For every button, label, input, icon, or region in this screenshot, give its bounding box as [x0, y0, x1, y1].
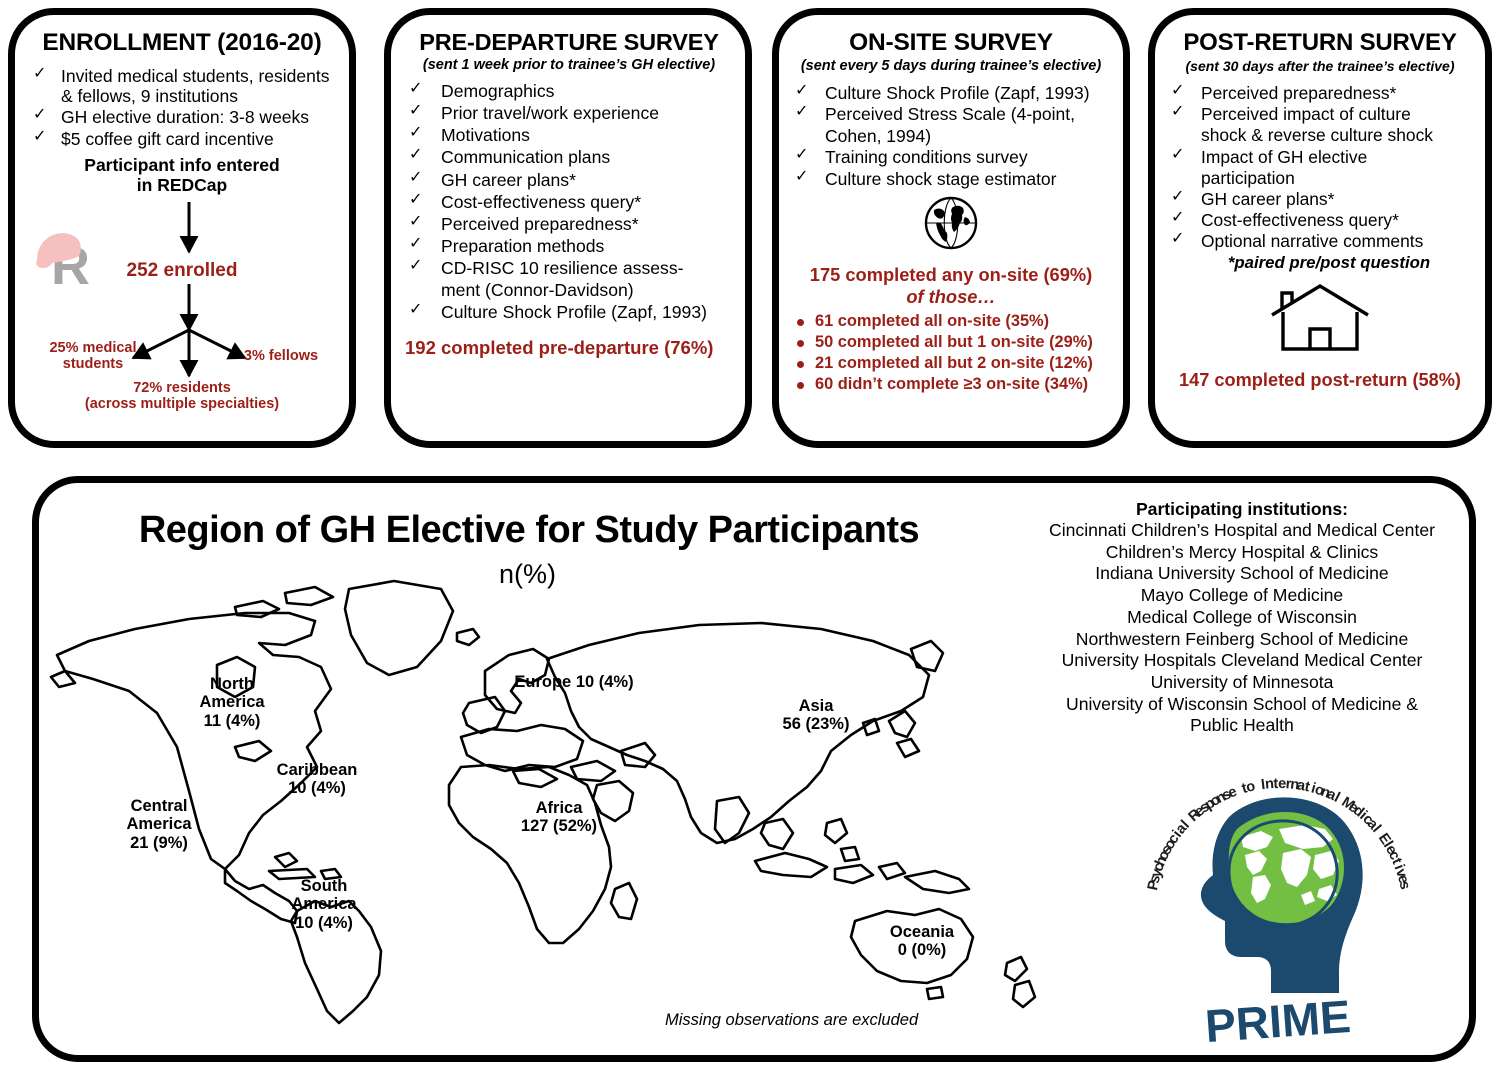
panel-pre-departure: PRE-DEPARTURE SURVEY (sent 1 week prior …: [384, 8, 752, 448]
list-item: 21 completed all but 2 on-site (12%): [789, 353, 1113, 374]
list-item: ✓GH career plans*: [1165, 189, 1475, 209]
branch-residents: 72% residents (across multiple specialti…: [27, 380, 337, 412]
list-item: ✓Preparation methods: [403, 236, 735, 256]
list-item: 61 completed all on-site (35%): [789, 311, 1113, 332]
on-site-stat-head: 175 completed any on-site (69%): [789, 264, 1113, 286]
list-item-label: Optional narrative comments: [1201, 231, 1423, 251]
check-icon: ✓: [33, 65, 46, 83]
prime-logo-graphic: PRIME: [1119, 771, 1439, 1053]
institution-item: University of Minnesota: [1009, 672, 1475, 694]
post-return-footer: 147 completed post-return (58%): [1165, 370, 1475, 391]
enrollment-flow: R 252 enrolled 25% medical students: [27, 198, 337, 376]
institution-item: Cincinnati Children’s Hospital and Medic…: [1009, 520, 1475, 542]
map-label-line: 0 (0%): [857, 941, 987, 959]
check-icon: ✓: [409, 146, 422, 164]
map-label-oceania: Oceania 0 (0%): [857, 923, 987, 960]
list-item: ✓GH career plans*: [403, 170, 735, 190]
map-label-line: 56 (23%): [751, 715, 881, 733]
list-item: ✓Demographics: [403, 81, 735, 101]
institution-item: Northwestern Feinberg School of Medicine: [1009, 629, 1475, 651]
on-site-of-those: of those…: [789, 286, 1113, 308]
list-item: ✓Cost-effectiveness query*: [403, 192, 735, 212]
list-item-label: Motivations: [441, 125, 530, 145]
list-item-label: Perceived preparedness*: [441, 214, 639, 234]
list-item-label: shock & reverse culture shock: [1201, 125, 1433, 145]
list-item: ✓Culture shock stage estimator: [789, 169, 1113, 189]
list-item-label: Impact of GH elective: [1201, 147, 1367, 167]
post-return-checklist: ✓Perceived preparedness* ✓Perceived impa…: [1165, 83, 1475, 252]
map-label-line: America: [95, 815, 223, 833]
list-item: ✓Perceived impact of culture: [1165, 104, 1475, 124]
panel-on-site-subtitle: (sent every 5 days during trainee’s elec…: [789, 58, 1113, 74]
list-item: ✓Communication plans: [403, 147, 735, 167]
pre-departure-footer: 192 completed pre-departure (76%): [403, 337, 735, 359]
panel-post-return-subtitle: (sent 30 days after the trainee’s electi…: [1165, 58, 1475, 74]
panel-enrollment: ENROLLMENT (2016-20) ✓Invited medical st…: [8, 8, 356, 448]
map-label-africa: Africa 127 (52%): [489, 799, 629, 836]
check-icon: ✓: [409, 80, 422, 98]
map-label-line: 127 (52%): [489, 817, 629, 835]
check-icon: ✓: [1171, 230, 1184, 249]
list-item-label: Perceived Stress Scale (4-point,: [825, 104, 1075, 124]
map-label-asia: Asia 56 (23%): [751, 697, 881, 734]
map-title: Region of GH Elective for Study Particip…: [79, 509, 979, 552]
check-icon: ✓: [1171, 82, 1184, 101]
map-label-line: South: [259, 877, 389, 895]
on-site-checklist: ✓Culture Shock Profile (Zapf, 1993) ✓Per…: [789, 83, 1113, 189]
list-item-label: Preparation methods: [441, 236, 604, 256]
list-item-label: Perceived impact of culture: [1201, 104, 1411, 124]
list-item-label: Perceived preparedness*: [1201, 83, 1396, 103]
check-icon: ✓: [409, 213, 422, 231]
missing-observations-note: Missing observations are excluded: [665, 1011, 918, 1030]
institution-item: Public Health: [1009, 715, 1475, 737]
globe-icon: [923, 195, 979, 251]
panel-on-site: ON-SITE SURVEY (sent every 5 days during…: [772, 8, 1130, 448]
on-site-bullets: 61 completed all on-site (35%) 50 comple…: [789, 311, 1113, 394]
list-item: ✓Prior travel/work experience: [403, 103, 735, 123]
list-item-label: Demographics: [441, 81, 554, 101]
list-item-label: Cost-effectiveness query*: [441, 192, 641, 212]
check-icon: ✓: [795, 82, 808, 101]
check-icon: ✓: [409, 191, 422, 209]
list-item-continuation: ✓participation: [1165, 168, 1475, 188]
list-item-label: Cohen, 1994): [825, 126, 931, 146]
map-label-line: Central: [95, 797, 223, 815]
list-item: ✓$5 coffee gift card incentive: [27, 129, 337, 149]
list-item-label: CD-RISC 10 resilience assess-: [441, 258, 683, 278]
list-item-label: Culture shock stage estimator: [825, 169, 1057, 189]
list-item: ✓CD-RISC 10 resilience assess-: [403, 258, 735, 278]
check-icon: ✓: [409, 257, 422, 275]
list-item: 60 didn’t complete ≥3 on-site (34%): [789, 374, 1113, 395]
map-label-north-america: North America 11 (4%): [167, 675, 297, 730]
list-item: ✓Cost-effectiveness query*: [1165, 210, 1475, 230]
list-item: ✓Perceived preparedness*: [1165, 83, 1475, 103]
redcap-heading-line1: Participant info entered: [27, 155, 337, 176]
panel-post-return-title: POST-RETURN SURVEY: [1165, 29, 1475, 57]
check-icon: ✓: [1171, 209, 1184, 228]
branch-residents-line1: 72% residents: [27, 380, 337, 396]
map-label-line: 10 (4%): [247, 779, 387, 797]
list-item: ✓Culture Shock Profile (Zapf, 1993): [789, 83, 1113, 103]
map-label-line: 10 (4%): [259, 914, 389, 932]
map-label-line: Asia: [751, 697, 881, 715]
list-item-label: Invited medical students, residents & fe…: [61, 66, 329, 106]
list-item-label: Prior travel/work experience: [441, 103, 659, 123]
check-icon: ✓: [409, 235, 422, 253]
panel-on-site-title: ON-SITE SURVEY: [789, 29, 1113, 57]
institution-item: Indiana University School of Medicine: [1009, 563, 1475, 585]
check-icon: ✓: [795, 103, 808, 122]
check-icon: ✓: [409, 102, 422, 120]
institution-item: Mayo College of Medicine: [1009, 585, 1475, 607]
institutions-heading: Participating institutions:: [1009, 499, 1475, 520]
institution-item: Medical College of Wisconsin: [1009, 607, 1475, 629]
branch-fellows: 3% fellows: [229, 348, 333, 364]
list-item: ✓Culture Shock Profile (Zapf, 1993): [403, 302, 735, 322]
institution-item: University Hospitals Cleveland Medical C…: [1009, 650, 1475, 672]
check-icon: ✓: [1171, 103, 1184, 122]
list-item-label: $5 coffee gift card incentive: [61, 129, 274, 149]
list-item-label: Communication plans: [441, 147, 610, 167]
redcap-heading: Participant info entered in REDCap: [27, 155, 337, 196]
list-item: ✓Optional narrative comments: [1165, 231, 1475, 251]
pre-departure-checklist: ✓Demographics ✓Prior travel/work experie…: [403, 81, 735, 323]
list-item: 50 completed all but 1 on-site (29%): [789, 332, 1113, 353]
check-icon: ✓: [1171, 146, 1184, 165]
house-icon: [1268, 283, 1372, 353]
list-item: ✓Perceived Stress Scale (4-point,: [789, 104, 1113, 124]
globe-icon-wrapper: [789, 195, 1113, 256]
list-item-label: GH elective duration: 3-8 weeks: [61, 107, 309, 127]
check-icon: ✓: [409, 301, 422, 319]
enrollment-checklist: ✓Invited medical students, residents & f…: [27, 66, 337, 149]
map-label-line: 21 (9%): [95, 834, 223, 852]
panel-pre-departure-title: PRE-DEPARTURE SURVEY: [403, 29, 735, 56]
map-label-central-america: Central America 21 (9%): [95, 797, 223, 852]
list-item: ✓Perceived preparedness*: [403, 214, 735, 234]
house-icon-wrapper: [1165, 283, 1475, 358]
paired-question-note: *paired pre/post question: [1165, 253, 1475, 273]
institution-item: University of Wisconsin School of Medici…: [1009, 694, 1475, 716]
branch-residents-line2: (across multiple specialties): [27, 396, 337, 412]
map-label-line: Oceania: [857, 923, 987, 941]
list-item-continuation: ✓ment (Connor-Davidson): [403, 280, 735, 300]
check-icon: ✓: [795, 168, 808, 187]
list-item-continuation: ✓shock & reverse culture shock: [1165, 125, 1475, 145]
map-label-line: North: [167, 675, 297, 693]
list-item-label: Culture Shock Profile (Zapf, 1993): [441, 302, 707, 322]
enrolled-count: 252 enrolled: [27, 260, 337, 282]
list-item-label: participation: [1201, 168, 1295, 188]
list-item-label: Training conditions survey: [825, 147, 1028, 167]
institution-item: Children’s Mercy Hospital & Clinics: [1009, 542, 1475, 564]
map-label-line: Europe 10 (4%): [489, 673, 659, 691]
prime-wordmark: PRIME: [1203, 990, 1352, 1052]
check-icon: ✓: [795, 146, 808, 165]
list-item-label: Cost-effectiveness query*: [1201, 210, 1399, 230]
panel-post-return: POST-RETURN SURVEY (sent 30 days after t…: [1148, 8, 1492, 448]
check-icon: ✓: [33, 128, 46, 146]
list-item-label: GH career plans*: [441, 170, 576, 190]
panel-map: Region of GH Elective for Study Particip…: [32, 476, 1476, 1062]
list-item: ✓GH elective duration: 3-8 weeks: [27, 107, 337, 127]
map-label-south-america: South America 10 (4%): [259, 877, 389, 932]
branch-medical-students: 25% medical students: [29, 340, 157, 372]
check-icon: ✓: [1171, 188, 1184, 207]
map-label-caribbean: Caribbean 10 (4%): [247, 761, 387, 798]
list-item-label: GH career plans*: [1201, 189, 1334, 209]
list-item-label: Culture Shock Profile (Zapf, 1993): [825, 83, 1090, 103]
check-icon: ✓: [33, 106, 46, 124]
list-item: ✓Invited medical students, residents & f…: [27, 66, 337, 106]
map-label-europe: Europe 10 (4%): [489, 673, 659, 691]
check-icon: ✓: [409, 124, 422, 142]
map-label-line: America: [259, 895, 389, 913]
panel-enrollment-title: ENROLLMENT (2016-20): [27, 29, 337, 57]
list-item: ✓Training conditions survey: [789, 147, 1113, 167]
map-label-line: Africa: [489, 799, 629, 817]
prime-logo: PRIME Psychosocial Response to Internati…: [1119, 771, 1439, 1053]
map-label-line: America: [167, 693, 297, 711]
list-item-continuation: ✓Cohen, 1994): [789, 126, 1113, 146]
list-item: ✓Impact of GH elective: [1165, 147, 1475, 167]
redcap-heading-line2: in REDCap: [27, 175, 337, 196]
list-item: ✓Motivations: [403, 125, 735, 145]
map-label-line: 11 (4%): [167, 712, 297, 730]
participating-institutions: Participating institutions: Cincinnati C…: [1009, 499, 1475, 737]
infographic-root: ENROLLMENT (2016-20) ✓Invited medical st…: [0, 0, 1500, 1073]
panel-pre-departure-subtitle: (sent 1 week prior to trainee’s GH elect…: [403, 57, 735, 73]
check-icon: ✓: [409, 169, 422, 187]
map-label-line: Caribbean: [247, 761, 387, 779]
list-item-label: ment (Connor-Davidson): [441, 280, 634, 300]
